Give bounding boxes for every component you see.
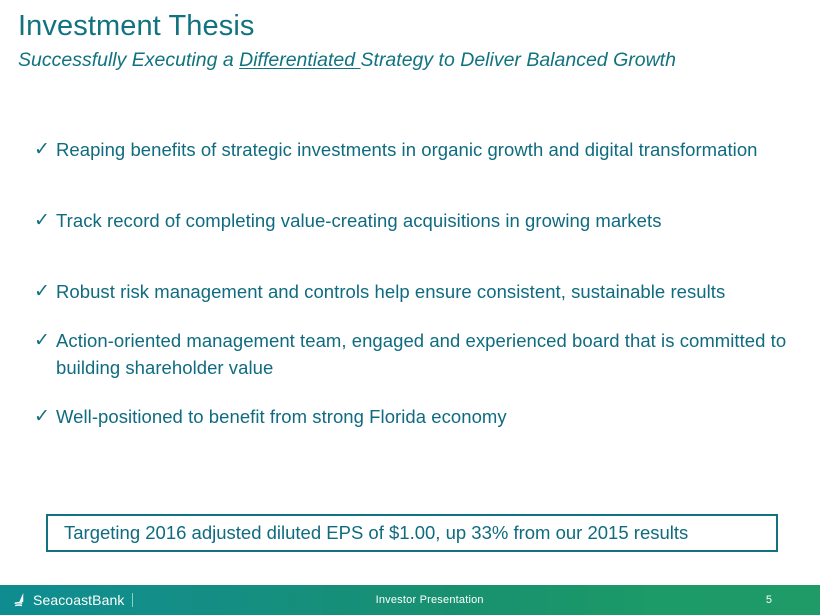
page-number: 5 (766, 594, 820, 606)
list-item: ✓ Well-positioned to benefit from strong… (34, 403, 789, 430)
slide-subtitle: Successfully Executing a Differentiated … (18, 49, 820, 72)
list-item: ✓ Action-oriented management team, engag… (34, 327, 789, 381)
subtitle-part-before: Successfully Executing a (18, 49, 239, 71)
footer-title: Investor Presentation (93, 594, 765, 606)
check-icon: ✓ (34, 207, 56, 234)
list-item-text: Reaping benefits of strategic investment… (56, 136, 789, 163)
callout-text: Targeting 2016 adjusted diluted EPS of $… (48, 522, 688, 544)
list-item-text: Robust risk management and controls help… (56, 278, 789, 305)
list-item: ✓ Robust risk management and controls he… (34, 278, 789, 305)
list-item-text: Track record of completing value-creatin… (56, 207, 789, 234)
list-item-text: Well-positioned to benefit from strong F… (56, 403, 789, 430)
check-icon: ✓ (34, 327, 56, 354)
list-item-text: Action-oriented management team, engaged… (56, 327, 789, 381)
check-icon: ✓ (34, 278, 56, 305)
presentation-slide: Investment Thesis Successfully Executing… (0, 0, 820, 615)
subtitle-part-underlined: Differentiated (239, 49, 360, 71)
slide-header: Investment Thesis Successfully Executing… (0, 0, 820, 73)
slide-footer: SeacoastBank Investor Presentation 5 (0, 585, 820, 615)
list-item: ✓ Track record of completing value-creat… (34, 207, 789, 234)
bullet-list: ✓ Reaping benefits of strategic investme… (34, 136, 789, 452)
subtitle-part-after: Strategy to Deliver Balanced Growth (361, 49, 676, 71)
check-icon: ✓ (34, 403, 56, 430)
seacoast-sail-icon (13, 592, 29, 608)
page-title: Investment Thesis (18, 10, 820, 42)
callout-box: Targeting 2016 adjusted diluted EPS of $… (46, 514, 778, 552)
check-icon: ✓ (34, 136, 56, 163)
list-item: ✓ Reaping benefits of strategic investme… (34, 136, 789, 163)
